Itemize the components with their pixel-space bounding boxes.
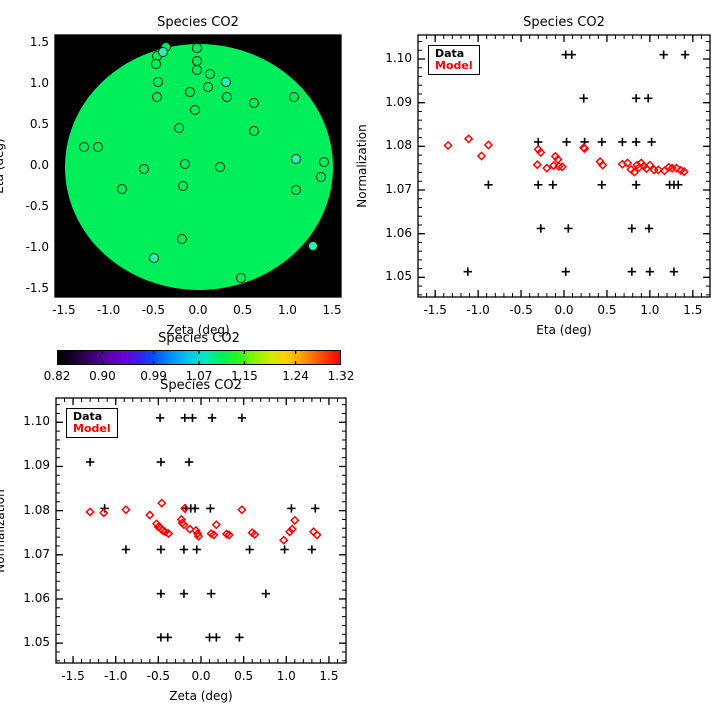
panel-map-xtick-label: -1.0 — [87, 303, 131, 317]
panel-map-ytick-label: -1.0 — [3, 240, 49, 254]
panel-eta-ytick-label: 1.07 — [366, 182, 412, 196]
colorbar-tick-label: 1.07 — [177, 369, 221, 383]
panel-eta-ylabel: Normalization — [355, 124, 369, 207]
panel-eta-xlabel: Eta (deg) — [418, 323, 710, 337]
panel-zeta-xtick-label: -1.0 — [94, 669, 138, 683]
panel-zeta-ytick-label: 1.05 — [4, 635, 50, 649]
panel-map-xtick-label: 0.5 — [221, 303, 265, 317]
panel-eta-xtick-label: 0.0 — [542, 303, 586, 317]
panel-map-ytick-label: -0.5 — [3, 199, 49, 213]
panel-zeta-ytick-label: 1.09 — [4, 458, 50, 472]
panel-map-title: Species CO2 — [55, 15, 341, 30]
panel-map-ytick-label: 1.5 — [3, 35, 49, 49]
panel-map-xtick-label: 0.0 — [176, 303, 220, 317]
panel-zeta-legend-entry-model: Model — [73, 423, 111, 435]
panel-eta-xtick-label: 1.0 — [628, 303, 672, 317]
panel-zeta-xlabel: Zeta (deg) — [56, 689, 346, 703]
panel-zeta-legend: DataModel — [66, 408, 118, 438]
panel-zeta-ytick-label: 1.10 — [4, 414, 50, 428]
colorbar-tick-label: 1.15 — [222, 369, 266, 383]
colorbar-tick-label: 1.24 — [274, 369, 318, 383]
panel-eta-xtick-label: 0.5 — [585, 303, 629, 317]
panel-map-ytick-label: -1.5 — [3, 281, 49, 295]
colorbar-title: Species CO2 — [57, 331, 341, 346]
panel-zeta-ytick-label: 1.07 — [4, 547, 50, 561]
panel-map-ytick-label: 1.0 — [3, 76, 49, 90]
colorbar-tick-label: 0.99 — [132, 369, 176, 383]
panel-map-ylabel: Eta (deg) — [0, 138, 6, 193]
panel-zeta-xtick-label: 1.0 — [264, 669, 308, 683]
panel-eta-legend: DataModel — [428, 45, 480, 75]
panel-map-xtick-label: -0.5 — [131, 303, 175, 317]
colorbar-tick-label: 0.82 — [35, 369, 79, 383]
colorbar-ticks — [56, 349, 342, 366]
panel-zeta-ylabel: Normalization — [0, 489, 7, 572]
panel-eta-xtick-label: -1.0 — [456, 303, 500, 317]
panel-eta-xtick-label: 1.5 — [671, 303, 715, 317]
colorbar-tick-label: 0.90 — [80, 369, 124, 383]
panel-eta-xtick-label: -1.5 — [413, 303, 457, 317]
panel-map-xtick-label: 1.5 — [310, 303, 354, 317]
panel-zeta-xtick-label: 0.5 — [222, 669, 266, 683]
panel-eta-title: Species CO2 — [418, 15, 710, 30]
panel-eta-ytick-label: 1.06 — [366, 226, 412, 240]
panel-zeta-xtick-label: -0.5 — [136, 669, 180, 683]
panel-eta-ytick-label: 1.10 — [366, 51, 412, 65]
panel-map-xtick-label: 1.0 — [265, 303, 309, 317]
panel-zeta-ytick-label: 1.08 — [4, 503, 50, 517]
panel-eta-ytick-label: 1.08 — [366, 138, 412, 152]
panel-map-xtick-label: -1.5 — [42, 303, 86, 317]
panel-eta-ytick-label: 1.05 — [366, 269, 412, 283]
panel-zeta-xtick-label: 1.5 — [307, 669, 351, 683]
panel-map-ytick-label: 0.5 — [3, 117, 49, 131]
panel-zeta-xtick-label: 0.0 — [179, 669, 223, 683]
panel-map-ytick-label: 0.0 — [3, 158, 49, 172]
colorbar-tick-label: 1.32 — [319, 369, 363, 383]
panel-eta-xtick-label: -0.5 — [499, 303, 543, 317]
panel-eta-legend-entry-model: Model — [435, 60, 473, 72]
panel-map-frame — [54, 34, 342, 298]
panel-eta-ytick-label: 1.09 — [366, 95, 412, 109]
panel-zeta-ytick-label: 1.06 — [4, 591, 50, 605]
panel-zeta-xtick-label: -1.5 — [51, 669, 95, 683]
